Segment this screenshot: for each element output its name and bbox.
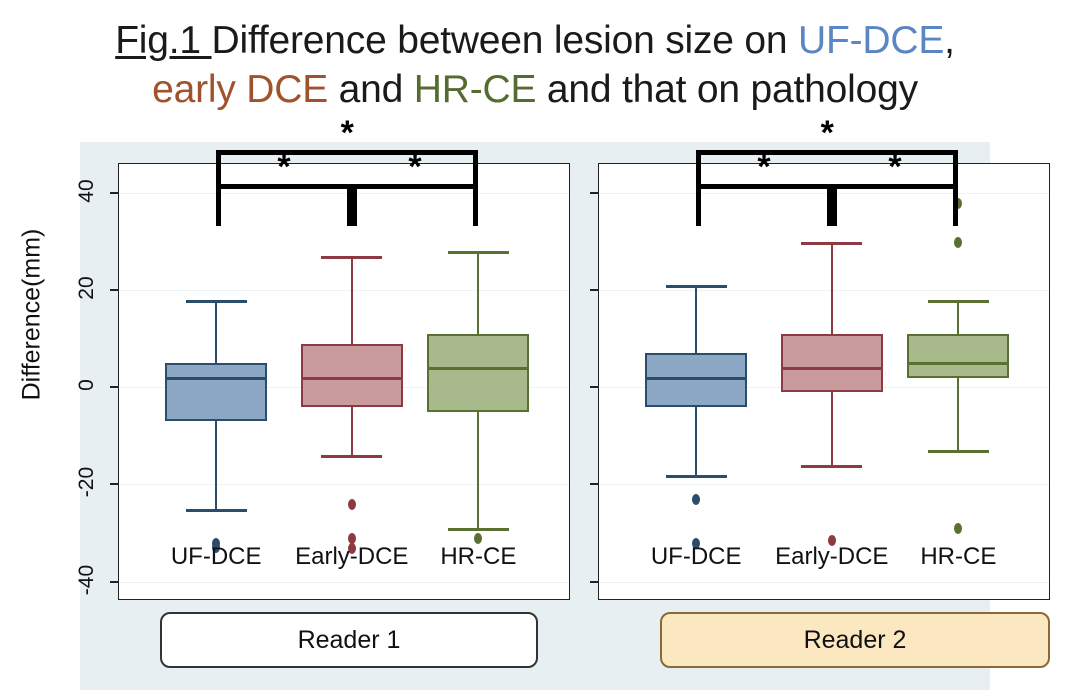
whisker-lower-Early-DCE	[351, 407, 353, 456]
y-tick-label--20: -20	[75, 462, 99, 502]
gridline-20	[119, 290, 569, 291]
y-tick-mark-40	[590, 192, 599, 194]
significance-leg-left-2	[832, 184, 837, 226]
y-tick-mark--40	[590, 581, 599, 583]
whisker-upper-UF-DCE	[215, 300, 217, 363]
whisker-lower-UF-DCE	[215, 421, 217, 508]
y-tick-mark-0	[110, 386, 119, 388]
significance-mark-2: *	[408, 150, 421, 184]
y-tick-mark--40	[110, 581, 119, 583]
box-HR-CE	[427, 334, 529, 412]
significance-leg-right-2	[473, 184, 478, 226]
whisker-cap-lower-Early-DCE	[801, 465, 862, 468]
x-axis-label-HR-CE: HR-CE	[440, 543, 516, 571]
significance-leg-left-2	[352, 184, 357, 226]
significance-mark-0: *	[821, 116, 834, 150]
box-UF-DCE	[165, 363, 267, 421]
whisker-cap-upper-HR-CE	[448, 251, 509, 254]
gridline-20	[599, 290, 1049, 291]
whisker-cap-upper-Early-DCE	[801, 242, 862, 245]
whisker-upper-Early-DCE	[351, 256, 353, 343]
title-term-uf-dce: UF-DCE	[798, 19, 944, 62]
median-HR-CE	[427, 367, 529, 370]
whisker-cap-lower-HR-CE	[448, 528, 509, 531]
outlier-HR-CE-1	[954, 237, 962, 248]
figure-root: Fig.1 Difference between lesion size on …	[0, 0, 1070, 700]
y-tick-mark-0	[590, 386, 599, 388]
gridline--40	[119, 582, 569, 583]
legend-chip-reader-2-label: Reader 2	[804, 626, 907, 655]
title-comma: ,	[944, 19, 955, 62]
gridline-40	[119, 193, 569, 194]
median-UF-DCE	[165, 377, 267, 380]
title-text-c: and that on pathology	[536, 68, 918, 111]
box-Early-DCE	[781, 334, 883, 392]
gridline--40	[599, 582, 1049, 583]
whisker-upper-HR-CE	[477, 251, 479, 334]
whisker-cap-lower-Early-DCE	[321, 455, 382, 458]
significance-mark-2: *	[888, 150, 901, 184]
x-axis-label-HR-CE: HR-CE	[920, 543, 996, 571]
gridline-40	[599, 193, 1049, 194]
title-term-hr-ce: HR-CE	[414, 68, 537, 111]
significance-mark-1: *	[277, 150, 290, 184]
outlier-UF-DCE-0	[692, 494, 700, 505]
significance-mark-1: *	[757, 150, 770, 184]
legend-chip-reader-2[interactable]: Reader 2	[660, 612, 1050, 668]
whisker-lower-HR-CE	[477, 412, 479, 529]
whisker-upper-Early-DCE	[831, 242, 833, 334]
y-tick-label-0: 0	[75, 365, 99, 405]
whisker-lower-UF-DCE	[695, 407, 697, 475]
plot-panel-reader-2: UF-DCEEarly-DCEHR-CE***	[598, 163, 1050, 600]
box-Early-DCE	[301, 344, 403, 407]
y-tick-mark--20	[590, 483, 599, 485]
gridline--20	[599, 484, 1049, 485]
whisker-lower-HR-CE	[957, 378, 959, 451]
whisker-cap-upper-Early-DCE	[321, 256, 382, 259]
legend-chip-reader-1-label: Reader 1	[298, 626, 401, 655]
y-tick-label--40: -40	[75, 560, 99, 600]
y-tick-mark-20	[110, 289, 119, 291]
figure-title: Fig.1 Difference between lesion size on …	[0, 16, 1070, 114]
title-fig-number: Fig.1	[115, 19, 211, 62]
significance-leg-right-2	[953, 184, 958, 226]
whisker-cap-upper-HR-CE	[928, 300, 989, 303]
title-line-2: early DCE and HR-CE and that on patholog…	[0, 65, 1070, 114]
y-tick-mark--20	[110, 483, 119, 485]
median-UF-DCE	[645, 377, 747, 380]
plot-panel-reader-1: 40200-20-40UF-DCEEarly-DCEHR-CE***	[118, 163, 570, 600]
significance-mark-0: *	[341, 116, 354, 150]
outlier-Early-DCE-0	[348, 499, 356, 510]
whisker-cap-lower-HR-CE	[928, 450, 989, 453]
title-text-b: and	[328, 68, 414, 111]
title-term-early-dce: early DCE	[152, 68, 328, 111]
legend-chip-reader-1[interactable]: Reader 1	[160, 612, 538, 668]
whisker-upper-HR-CE	[957, 300, 959, 334]
whisker-upper-UF-DCE	[695, 285, 697, 353]
significance-leg-left-1	[696, 184, 701, 226]
y-axis-title: Difference(mm)	[18, 205, 47, 425]
outlier-HR-CE-2	[954, 523, 962, 534]
whisker-cap-lower-UF-DCE	[186, 509, 247, 512]
x-axis-label-Early-DCE: Early-DCE	[775, 543, 888, 571]
title-text-a: Difference between lesion size on	[212, 19, 799, 62]
whisker-cap-lower-UF-DCE	[666, 475, 727, 478]
y-tick-label-40: 40	[75, 171, 99, 211]
y-tick-mark-20	[590, 289, 599, 291]
y-tick-label-20: 20	[75, 268, 99, 308]
x-axis-label-UF-DCE: UF-DCE	[171, 543, 262, 571]
box-HR-CE	[907, 334, 1009, 378]
title-line-1: Fig.1 Difference between lesion size on …	[0, 16, 1070, 65]
box-UF-DCE	[645, 353, 747, 406]
median-Early-DCE	[301, 377, 403, 380]
median-Early-DCE	[781, 367, 883, 370]
whisker-lower-Early-DCE	[831, 392, 833, 465]
median-HR-CE	[907, 362, 1009, 365]
x-axis-label-Early-DCE: Early-DCE	[295, 543, 408, 571]
x-axis-label-UF-DCE: UF-DCE	[651, 543, 742, 571]
y-tick-mark-40	[110, 192, 119, 194]
gridline--20	[119, 484, 569, 485]
significance-leg-left-1	[216, 184, 221, 226]
whisker-cap-upper-UF-DCE	[186, 300, 247, 303]
whisker-cap-upper-UF-DCE	[666, 285, 727, 288]
